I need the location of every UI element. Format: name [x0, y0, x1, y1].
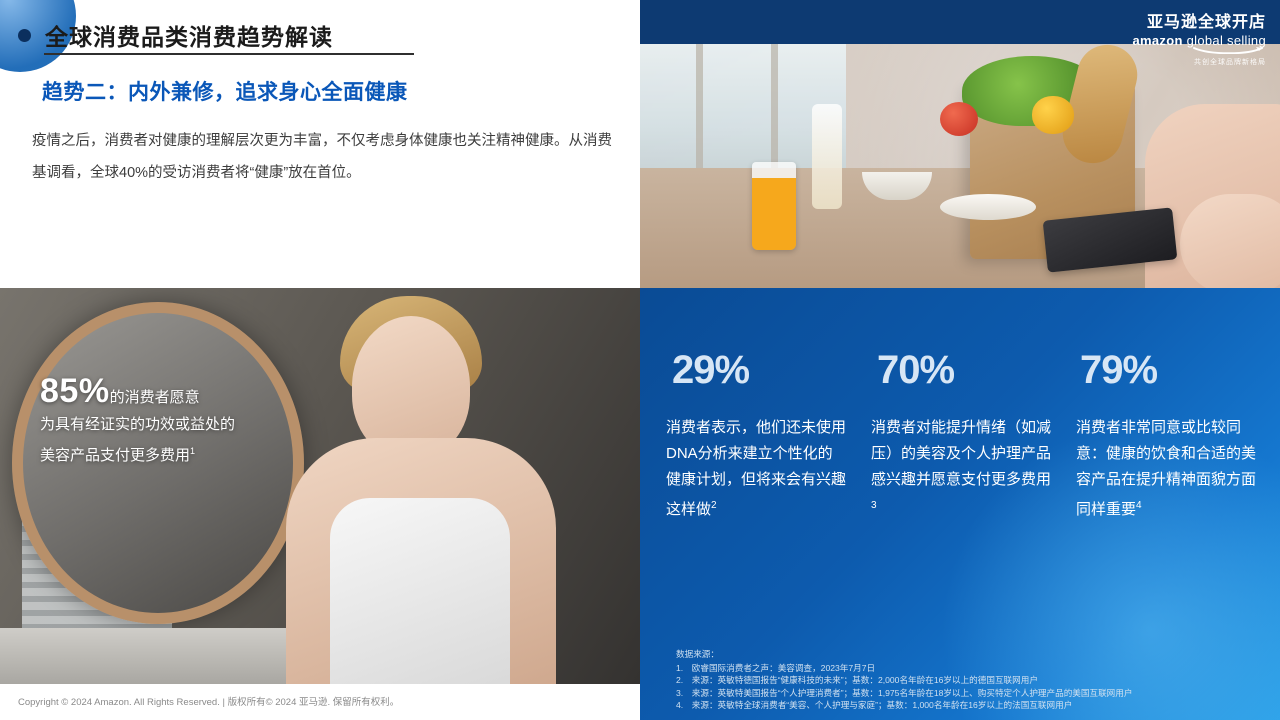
- stat-text-3-body: 消费者非常同意或比较同意：健康的饮食和合适的美容产品在提升精神面貌方面同样重要: [1076, 419, 1256, 518]
- plate: [940, 194, 1036, 220]
- source-item-2[interactable]: 2. 来源：英敏特德国报告“健康科技的未来”；基数：2,000名年龄在16岁以上…: [676, 674, 1256, 687]
- stat-text-1: 消费者表示，他们还未使用DNA分析来建立个性化的健康计划，但将来会有兴趣这样做2: [666, 415, 846, 523]
- stat-number-1: 29%: [666, 348, 846, 393]
- logo-cn-text: 亚马逊全球开店: [1133, 8, 1266, 32]
- intro-paragraph: 疫情之后，消费者对健康的理解层次更为丰富，不仅考虑身体健康也关注精神健康。从消费…: [32, 125, 612, 189]
- bullet-dot-icon: [18, 29, 31, 42]
- stat-footnote-2: 3: [871, 500, 877, 511]
- stat-number-2: 70%: [871, 348, 1051, 393]
- sources-title: 数据来源：: [676, 648, 1256, 661]
- section-subtitle: 趋势二：内外兼修，追求身心全面健康: [42, 76, 408, 106]
- source-item-4[interactable]: 4. 来源：英敏特全球消费者“美容、个人护理与家庭”；基数：1,000名年龄在1…: [676, 699, 1256, 712]
- logo-tagline: 共创全球品牌新格局: [1133, 57, 1266, 67]
- photo-stat-line3: 美容产品支付更多费用1: [40, 438, 235, 469]
- person-arm: [1180, 194, 1280, 288]
- copyright-text: Copyright © 2024 Amazon. All Rights Rese…: [18, 694, 399, 708]
- source-item-1[interactable]: 1. 欧睿国际消费者之声：美容调查，2023年7月7日: [676, 662, 1256, 675]
- logo-en-amazon: amazon: [1133, 33, 1183, 48]
- person-tanktop: [330, 498, 510, 684]
- juice-glass: [752, 162, 796, 250]
- groceries-photo-art: [640, 44, 1280, 288]
- photo-stat-overlay: 85%的消费者愿意 为具有经证实的功效或益处的 美容产品支付更多费用1: [40, 372, 235, 469]
- slide: 全球消费品类消费趋势解读 趋势二：内外兼修，追求身心全面健康 疫情之后，消费者对…: [0, 0, 1280, 720]
- intro-panel: 全球消费品类消费趋势解读 趋势二：内外兼修，追求身心全面健康 疫情之后，消费者对…: [0, 0, 640, 288]
- pepper: [1032, 96, 1074, 134]
- stat-text-2-body: 消费者对能提升情绪（如减压）的美容及个人护理产品感兴趣并愿意支付更多费用: [871, 419, 1051, 488]
- amazon-global-selling-logo: 亚马逊全球开店 amazon global selling 共创全球品牌新格局: [1133, 8, 1266, 67]
- tomato: [940, 102, 978, 136]
- logo-en-globalselling: global selling: [1183, 33, 1266, 48]
- page-title: 全球消费品类消费趋势解读: [45, 18, 333, 52]
- stats-row: 29% 消费者表示，他们还未使用DNA分析来建立个性化的健康计划，但将来会有兴趣…: [666, 348, 1256, 523]
- stat-card-3: 79% 消费者非常同意或比较同意：健康的饮食和合适的美容产品在提升精神面貌方面同…: [1076, 348, 1256, 523]
- photo-stat-first-line: 85%的消费者愿意: [40, 372, 235, 411]
- logo-en-text: amazon global selling: [1133, 33, 1266, 48]
- stat-footnote-3: 4: [1136, 500, 1142, 511]
- stats-panel: 29% 消费者表示，他们还未使用DNA分析来建立个性化的健康计划，但将来会有兴趣…: [640, 288, 1280, 720]
- photo-stat-percent: 85%: [40, 372, 110, 410]
- title-underline: [44, 53, 414, 55]
- stat-text-1-body: 消费者表示，他们还未使用DNA分析来建立个性化的健康计划，但将来会有兴趣这样做: [666, 419, 846, 518]
- person-head: [352, 316, 470, 458]
- photo-stat-line2: 为具有经证实的功效或益处的: [40, 411, 235, 438]
- sources-block: 数据来源： 1. 欧睿国际消费者之声：美容调查，2023年7月7日 2. 来源：…: [676, 648, 1256, 712]
- source-item-3[interactable]: 3. 来源：英敏特美国报告“个人护理消费者”；基数：1,975名年龄在18岁以上…: [676, 687, 1256, 700]
- photo-stat-footnote: 1: [190, 446, 195, 456]
- photo-stat-line3-text: 美容产品支付更多费用: [40, 447, 190, 464]
- beauty-photo: 85%的消费者愿意 为具有经证实的功效或益处的 美容产品支付更多费用1: [0, 288, 640, 684]
- bottle: [812, 104, 842, 209]
- stat-text-3: 消费者非常同意或比较同意：健康的饮食和合适的美容产品在提升精神面貌方面同样重要4: [1076, 415, 1256, 523]
- stat-text-2: 消费者对能提升情绪（如减压）的美容及个人护理产品感兴趣并愿意支付更多费用3: [871, 415, 1051, 523]
- stat-card-2: 70% 消费者对能提升情绪（如减压）的美容及个人护理产品感兴趣并愿意支付更多费用…: [871, 348, 1051, 523]
- stat-card-1: 29% 消费者表示，他们还未使用DNA分析来建立个性化的健康计划，但将来会有兴趣…: [666, 348, 846, 523]
- photo-stat-inline: 的消费者愿意: [110, 389, 200, 406]
- footer: Copyright © 2024 Amazon. All Rights Rese…: [0, 684, 640, 720]
- stat-footnote-1: 2: [711, 500, 717, 511]
- groceries-photo: 亚马逊全球开店 amazon global selling 共创全球品牌新格局: [640, 0, 1280, 288]
- stat-number-3: 79%: [1076, 348, 1256, 393]
- title-row: 全球消费品类消费趋势解读: [18, 18, 333, 52]
